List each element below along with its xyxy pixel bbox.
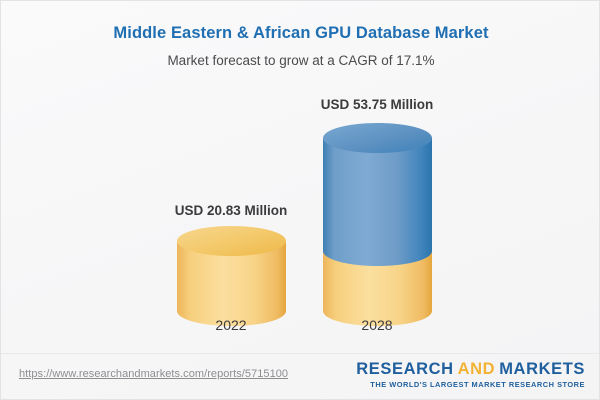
category-label-2028: 2028: [287, 317, 467, 333]
logo-word-research: RESEARCH: [356, 360, 453, 378]
bar-group-2028: USD 53.75 Million: [287, 81, 467, 346]
logo-word-markets: MARKETS: [499, 360, 585, 378]
logo-word-and: AND: [458, 360, 496, 378]
research-and-markets-logo[interactable]: RESEARCHANDMARKETS THE WORLD'S LARGEST M…: [356, 360, 585, 389]
chart-title: Middle Eastern & African GPU Database Ma…: [1, 24, 600, 43]
cylinder-2022[interactable]: [177, 226, 286, 326]
source-url-link[interactable]: https://www.researchandmarkets.com/repor…: [19, 368, 288, 380]
data-label-2028: USD 53.75 Million: [287, 97, 467, 112]
chart-card: Middle Eastern & African GPU Database Ma…: [0, 0, 600, 400]
chart-subtitle: Market forecast to grow at a CAGR of 17.…: [1, 53, 600, 68]
cylinder-2022-shape: [177, 226, 286, 326]
cylinder-2028[interactable]: [323, 123, 432, 326]
cylinder-2028-shape: [323, 123, 432, 326]
footer: https://www.researchandmarkets.com/repor…: [1, 354, 600, 400]
logo-wordmark: RESEARCHANDMARKETS: [356, 360, 585, 378]
logo-tagline: THE WORLD'S LARGEST MARKET RESEARCH STOR…: [356, 380, 585, 389]
plot-area: USD 20.83 Million: [1, 81, 600, 346]
